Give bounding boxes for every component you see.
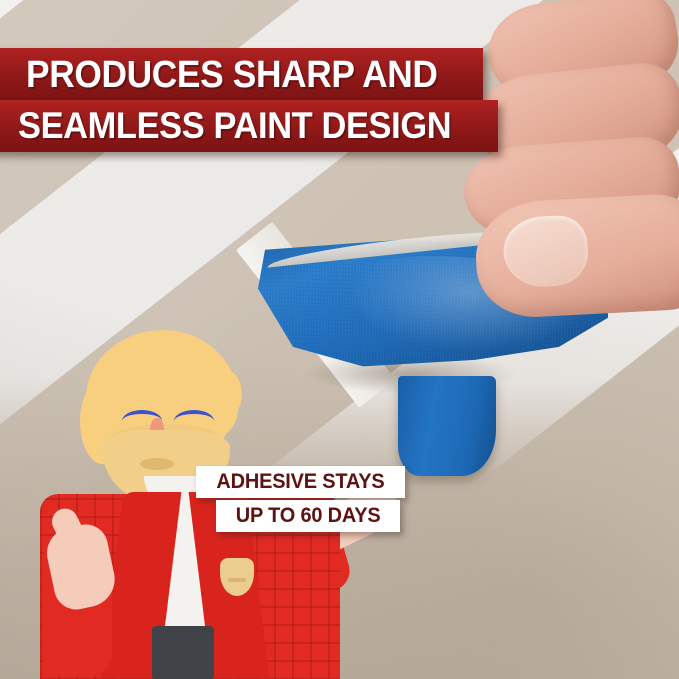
headline-text-line2: SEAMLESS PAINT DESIGN xyxy=(18,105,451,147)
thumb xyxy=(473,192,679,320)
headline-text-line1: PRODUCES SHARP AND xyxy=(26,54,438,97)
mouth xyxy=(140,458,174,470)
thumbnail xyxy=(502,214,590,288)
callout-text-line1: ADHESIVE STAYS xyxy=(216,470,384,494)
callout-text-line2: UP TO 60 DAYS xyxy=(236,504,381,528)
pocket-badge-detail xyxy=(228,578,246,582)
human-hand-peeling-tape xyxy=(470,0,679,334)
tape-tail-fold xyxy=(398,376,496,476)
headline-banner-line2: SEAMLESS PAINT DESIGN xyxy=(0,100,498,152)
callout-badge-line2: UP TO 60 DAYS xyxy=(216,500,400,532)
headline-banner-line1: PRODUCES SHARP AND xyxy=(0,48,483,102)
pants xyxy=(152,626,214,679)
marketing-image: PRODUCES SHARP AND SEAMLESS PAINT DESIGN… xyxy=(0,0,679,679)
callout-badge-line1: ADHESIVE STAYS xyxy=(196,466,405,498)
